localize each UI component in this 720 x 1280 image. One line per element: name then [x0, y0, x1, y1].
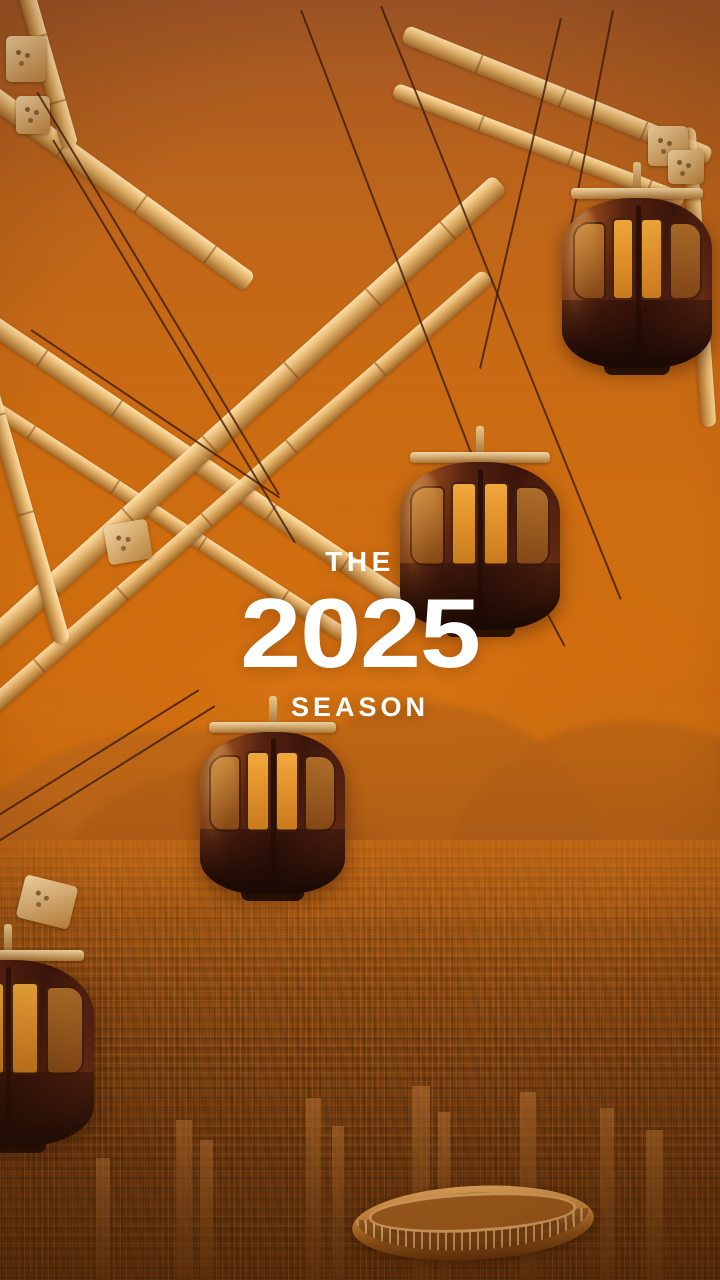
poster-canvas: THE 2025 SEASON — [0, 0, 720, 1280]
gondola-window-center-a — [612, 218, 635, 300]
wheel-node-top-left — [6, 36, 46, 82]
wheel-cable-8 — [0, 705, 216, 866]
gondola-window-right — [304, 755, 336, 833]
gondola-window-right — [46, 986, 84, 1075]
title-eyebrow: THE — [0, 548, 720, 576]
gondola-skid — [0, 1143, 46, 1153]
gondola-window-center-a — [246, 751, 269, 832]
gondola-lower-shell — [0, 1072, 94, 1146]
gondola-highlight — [206, 742, 238, 859]
gondola-cabin — [562, 198, 712, 368]
gondola-window-center-a — [0, 982, 5, 1075]
gondola-lower — [200, 722, 345, 894]
gondola-skid — [604, 365, 670, 375]
gondola-cabin — [200, 732, 345, 894]
gondola-window-center-b — [640, 218, 663, 300]
gondola-skid — [241, 891, 305, 901]
title-block: THE 2025 SEASON — [0, 548, 720, 721]
gondola-window-center-b — [11, 982, 39, 1075]
gondola-window-center-b — [275, 751, 298, 832]
title-year: 2025 — [0, 584, 720, 682]
gondola-cabin — [0, 960, 94, 1146]
wheel-node-upper-right — [668, 150, 704, 184]
gondola-top-right — [562, 188, 712, 368]
gondola-highlight — [568, 208, 601, 330]
gondola-window-right — [669, 222, 702, 300]
title-subline: SEASON — [0, 694, 720, 721]
gondola-bottom-left — [0, 950, 94, 1146]
wheel-node-lower-left — [15, 874, 78, 930]
wheel-node-mid-left — [16, 96, 50, 134]
